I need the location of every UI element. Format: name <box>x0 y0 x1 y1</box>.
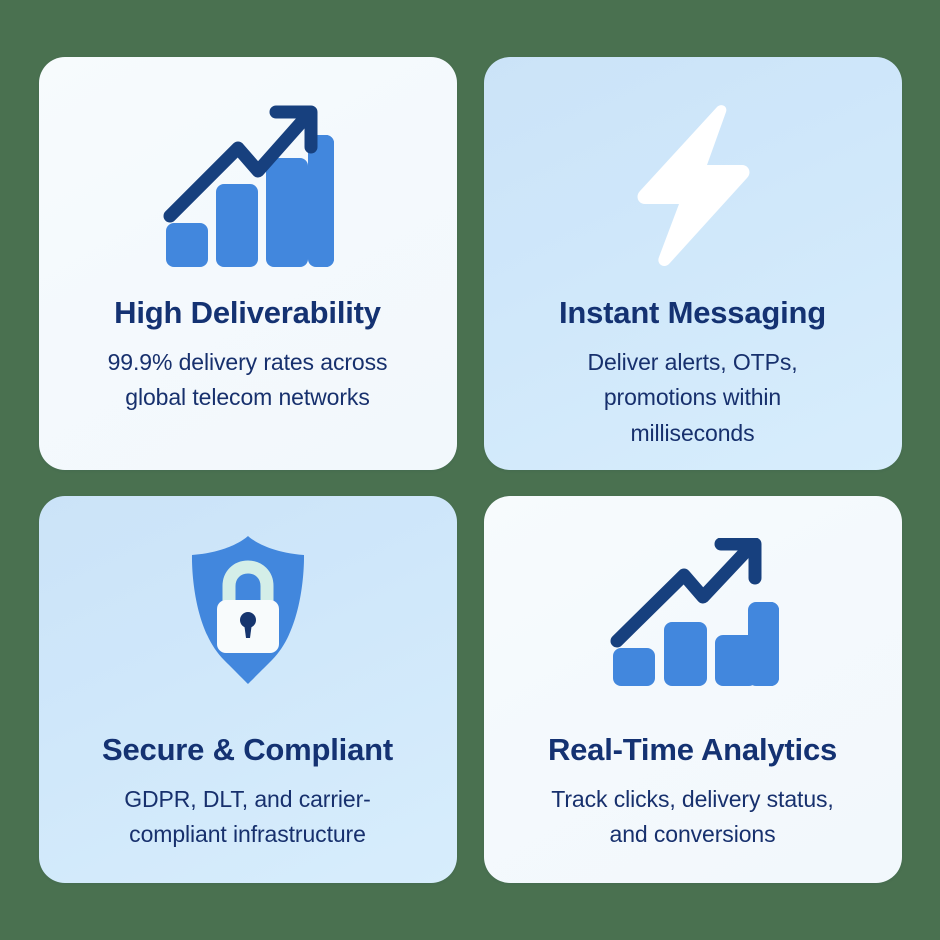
feature-card-instant-messaging[interactable]: Instant Messaging Deliver alerts, OTPs, … <box>484 57 902 470</box>
card-title: Secure & Compliant <box>39 732 457 768</box>
card-description: GDPR, DLT, and carrier-compliant infrast… <box>39 782 457 853</box>
card-title: Instant Messaging <box>484 295 902 331</box>
card-icon-container <box>484 496 902 692</box>
feature-card-real-time-analytics[interactable]: Real-Time Analytics Track clicks, delive… <box>484 496 902 883</box>
lightning-bolt-icon <box>633 101 753 271</box>
card-description: 99.9% delivery rates across global telec… <box>39 345 457 416</box>
card-title: High Deliverability <box>39 295 457 331</box>
growth-chart-icon <box>607 538 779 690</box>
card-icon-container <box>39 496 457 692</box>
card-description: Deliver alerts, OTPs, promotions within … <box>484 345 902 452</box>
feature-card-secure-compliant[interactable]: Secure & Compliant GDPR, DLT, and carrie… <box>39 496 457 883</box>
shield-lock-icon <box>184 534 312 690</box>
card-description: Track clicks, delivery status, and conve… <box>484 782 902 853</box>
feature-card-grid: High Deliverability 99.9% delivery rates… <box>0 0 940 940</box>
card-title: Real-Time Analytics <box>484 732 902 768</box>
feature-card-high-deliverability[interactable]: High Deliverability 99.9% delivery rates… <box>39 57 457 470</box>
card-icon-container <box>39 57 457 257</box>
growth-chart-icon <box>160 99 336 271</box>
card-icon-container <box>484 57 902 257</box>
